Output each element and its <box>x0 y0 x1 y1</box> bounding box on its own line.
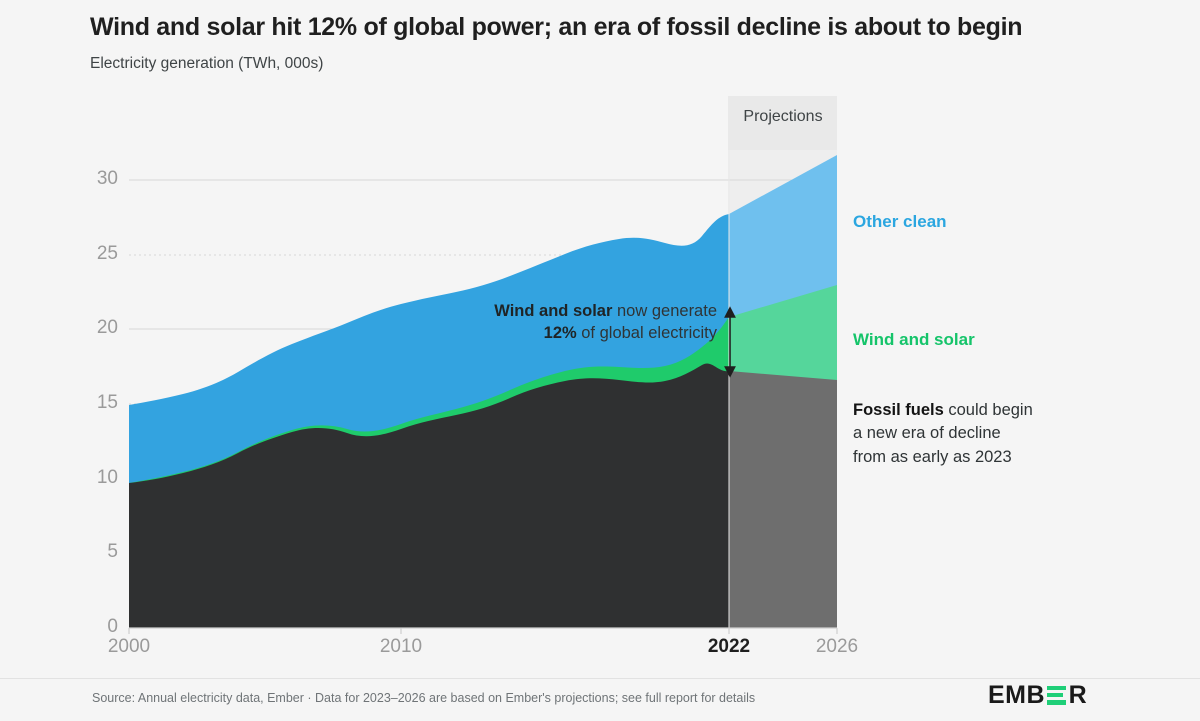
wind-solar-annotation: Wind and solar now generate 12% of globa… <box>392 300 717 345</box>
annotation-line-1-rest: now generate <box>612 302 717 320</box>
area-other-clean <box>129 214 729 628</box>
y-tick-5: 5 <box>72 541 118 563</box>
projection-areas <box>729 155 837 628</box>
annotation-line-2-rest: of global electricity <box>577 324 717 342</box>
annotation-line-2: 12% of global electricity <box>392 322 717 344</box>
chart-subtitle: Electricity generation (TWh, 000s) <box>90 55 790 73</box>
projection-region-background <box>728 150 837 628</box>
y-tick-15: 15 <box>72 392 118 414</box>
ember-logo: EMB R <box>988 682 1087 708</box>
historical-areas <box>129 214 729 628</box>
x-tick-2026: 2026 <box>792 636 882 658</box>
source-note: Source: Annual electricity data, Ember ·… <box>92 691 952 705</box>
legend-other-clean: Other clean <box>853 212 947 232</box>
x-tick-2022: 2022 <box>684 636 774 658</box>
y-tick-0: 0 <box>72 616 118 638</box>
annotation-line-2-bold: 12% <box>544 324 577 342</box>
gridlines <box>129 180 837 553</box>
area-fossil-fuels <box>129 363 729 628</box>
area-other-clean-projection <box>729 155 837 628</box>
fossil-note-bold: Fossil fuels <box>853 401 944 419</box>
y-tick-20: 20 <box>72 317 118 339</box>
fossil-note-line3: from as early as 2023 <box>853 448 1012 466</box>
area-wind-and-solar <box>129 317 729 628</box>
ember-logo-text-1: EMB <box>988 683 1045 708</box>
annotation-line-1-bold: Wind and solar <box>494 302 612 320</box>
y-tick-25: 25 <box>72 243 118 265</box>
projections-label: Projections <box>731 108 835 126</box>
footer-divider <box>0 678 1200 679</box>
x-tick-2010: 2010 <box>356 636 446 658</box>
x-tick-2000: 2000 <box>84 636 174 658</box>
fossil-note-line2: a new era of decline <box>853 424 1001 442</box>
fossil-fuels-note: Fossil fuels could begin a new era of de… <box>853 399 1183 469</box>
y-axis: 30 25 20 15 10 5 0 <box>72 0 118 721</box>
wind-solar-range-arrow <box>725 308 734 376</box>
area-wind-and-solar-projection <box>729 285 837 628</box>
ember-logo-e-bars-icon <box>1047 686 1066 705</box>
y-tick-10: 10 <box>72 467 118 489</box>
chart-page: Wind and solar hit 12% of global power; … <box>0 0 1200 721</box>
fossil-note-rest: could begin <box>944 401 1033 419</box>
legend-wind-and-solar: Wind and solar <box>853 330 975 350</box>
ember-logo-text-2: R <box>1069 683 1088 708</box>
area-fossil-fuels-projection <box>729 371 837 628</box>
page-title: Wind and solar hit 12% of global power; … <box>90 12 1150 42</box>
y-tick-30: 30 <box>72 168 118 190</box>
annotation-line-1: Wind and solar now generate <box>392 300 717 322</box>
stacked-area-chart <box>0 0 1200 721</box>
x-axis-ticks <box>129 628 837 634</box>
